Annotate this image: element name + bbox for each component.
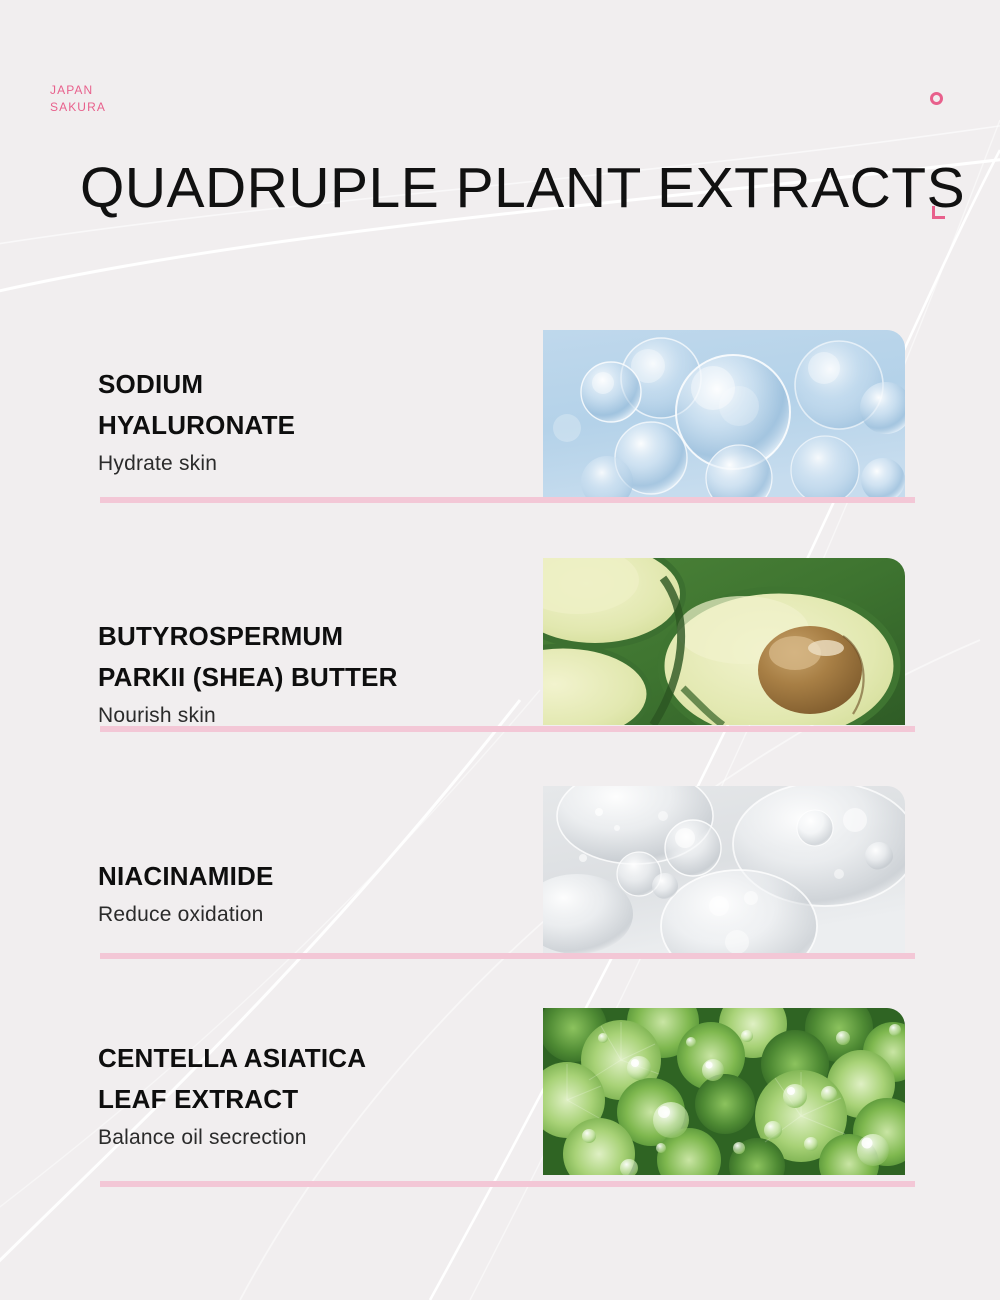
ingredient-name-1-line1: SODIUM: [98, 364, 528, 405]
ingredient-name-4-line1: CENTELLA ASIATICA: [98, 1038, 528, 1079]
ingredient-benefit-4: Balance oil secrection: [98, 1123, 528, 1153]
product-ingredient-infographic: JAPAN SAKURA QUADRUPLE PLANT EXTRACTS SO…: [0, 0, 1000, 1300]
clear-gel-droplets-photo: [543, 786, 905, 953]
ingredient-name-2-line2: PARKII (SHEA) BUTTER: [98, 657, 528, 698]
ingredient-text-2: BUTYROSPERMUM PARKII (SHEA) BUTTER Nouri…: [98, 616, 528, 731]
ingredient-name-2-line1: BUTYROSPERMUM: [98, 616, 528, 657]
centella-asiatica-leaves-photo: [543, 1008, 905, 1175]
ingredient-text-3: NIACINAMIDE Reduce oxidation: [98, 856, 528, 930]
ingredient-benefit-1: Hydrate skin: [98, 449, 528, 479]
ingredient-text-4: CENTELLA ASIATICA LEAF EXTRACT Balance o…: [98, 1038, 528, 1153]
ingredient-divider-3: [100, 953, 915, 959]
brand-logo: JAPAN SAKURA: [50, 82, 106, 116]
circle-outline-icon: [930, 92, 943, 105]
blue-water-bubbles-photo: [543, 330, 905, 497]
ingredient-divider-2: [100, 726, 915, 732]
ingredient-benefit-3: Reduce oxidation: [98, 900, 528, 930]
ingredient-text-1: SODIUM HYALURONATE Hydrate skin: [98, 364, 528, 479]
ingredient-name-4-line2: LEAF EXTRACT: [98, 1079, 528, 1120]
ingredient-image-1: [543, 330, 905, 497]
brand-line-2: SAKURA: [50, 99, 106, 116]
ingredient-name-1-line2: HYALURONATE: [98, 405, 528, 446]
avocado-halves-photo: [543, 558, 905, 725]
ingredient-name-3-line1: NIACINAMIDE: [98, 856, 528, 897]
brand-line-1: JAPAN: [50, 82, 106, 99]
page-title: QUADRUPLE PLANT EXTRACTS: [80, 152, 960, 224]
ingredient-image-2: [543, 558, 905, 725]
ingredient-image-3: [543, 786, 905, 953]
ingredient-image-4: [543, 1008, 905, 1175]
ingredient-divider-1: [100, 497, 915, 503]
ingredient-divider-4: [100, 1181, 915, 1187]
